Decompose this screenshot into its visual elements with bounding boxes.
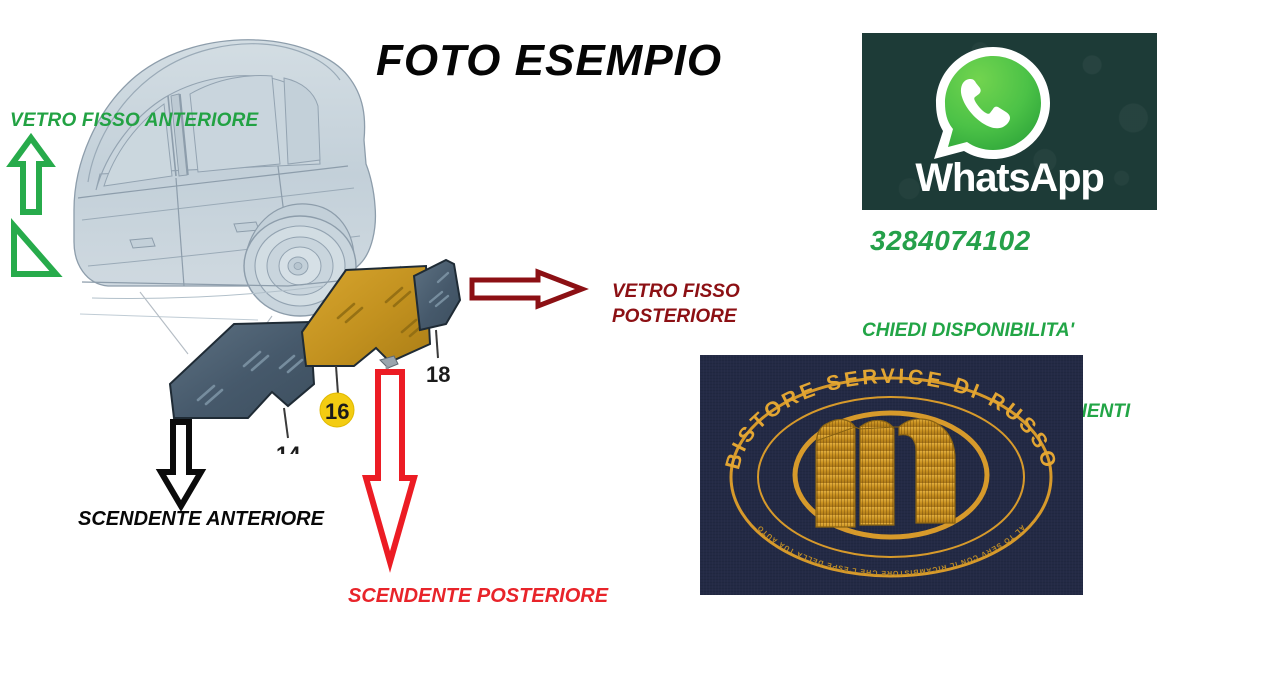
svg-text:16: 16 — [325, 399, 349, 424]
cta-line-1: CHIEDI DISPONIBILITA' — [862, 318, 1130, 345]
svg-text:14: 14 — [276, 442, 301, 454]
whatsapp-phone-icon — [912, 41, 1072, 169]
label-vetro-fisso-anteriore: VETRO FISSO ANTERIORE — [10, 110, 258, 131]
whatsapp-banner[interactable]: WhatsApp — [862, 33, 1157, 210]
shop-logo: MRICAMBISTORE SERVICE DI RUSSO MARCO AL … — [700, 355, 1083, 595]
label-vetro-fisso-posteriore: VETRO FISSO POSTERIORE — [612, 280, 740, 329]
whatsapp-wordmark: WhatsApp — [862, 156, 1157, 201]
svg-text:18: 18 — [426, 362, 450, 387]
up-arrow-green-icon — [8, 134, 54, 221]
triangle-green-icon — [8, 222, 60, 285]
label-scendente-posteriore: SCENDENTE POSTERIORE — [348, 585, 608, 607]
logo-monogram — [816, 419, 955, 527]
logo-tagline: AL TO SERV CON IL RICAMBISTORE CHE L'ESP… — [756, 523, 1025, 576]
car-body-illustration — [74, 40, 375, 320]
down-arrow-red-icon — [362, 368, 418, 573]
glass-part-18: 18 — [414, 260, 460, 387]
label-scendente-anteriore: SCENDENTE ANTERIORE — [78, 508, 324, 530]
car-parts-diagram: 14 16 17 18 — [48, 14, 518, 454]
down-arrow-black-icon — [155, 418, 207, 515]
right-arrow-darkred-icon — [468, 268, 586, 315]
phone-number[interactable]: 3284074102 — [870, 225, 1031, 256]
